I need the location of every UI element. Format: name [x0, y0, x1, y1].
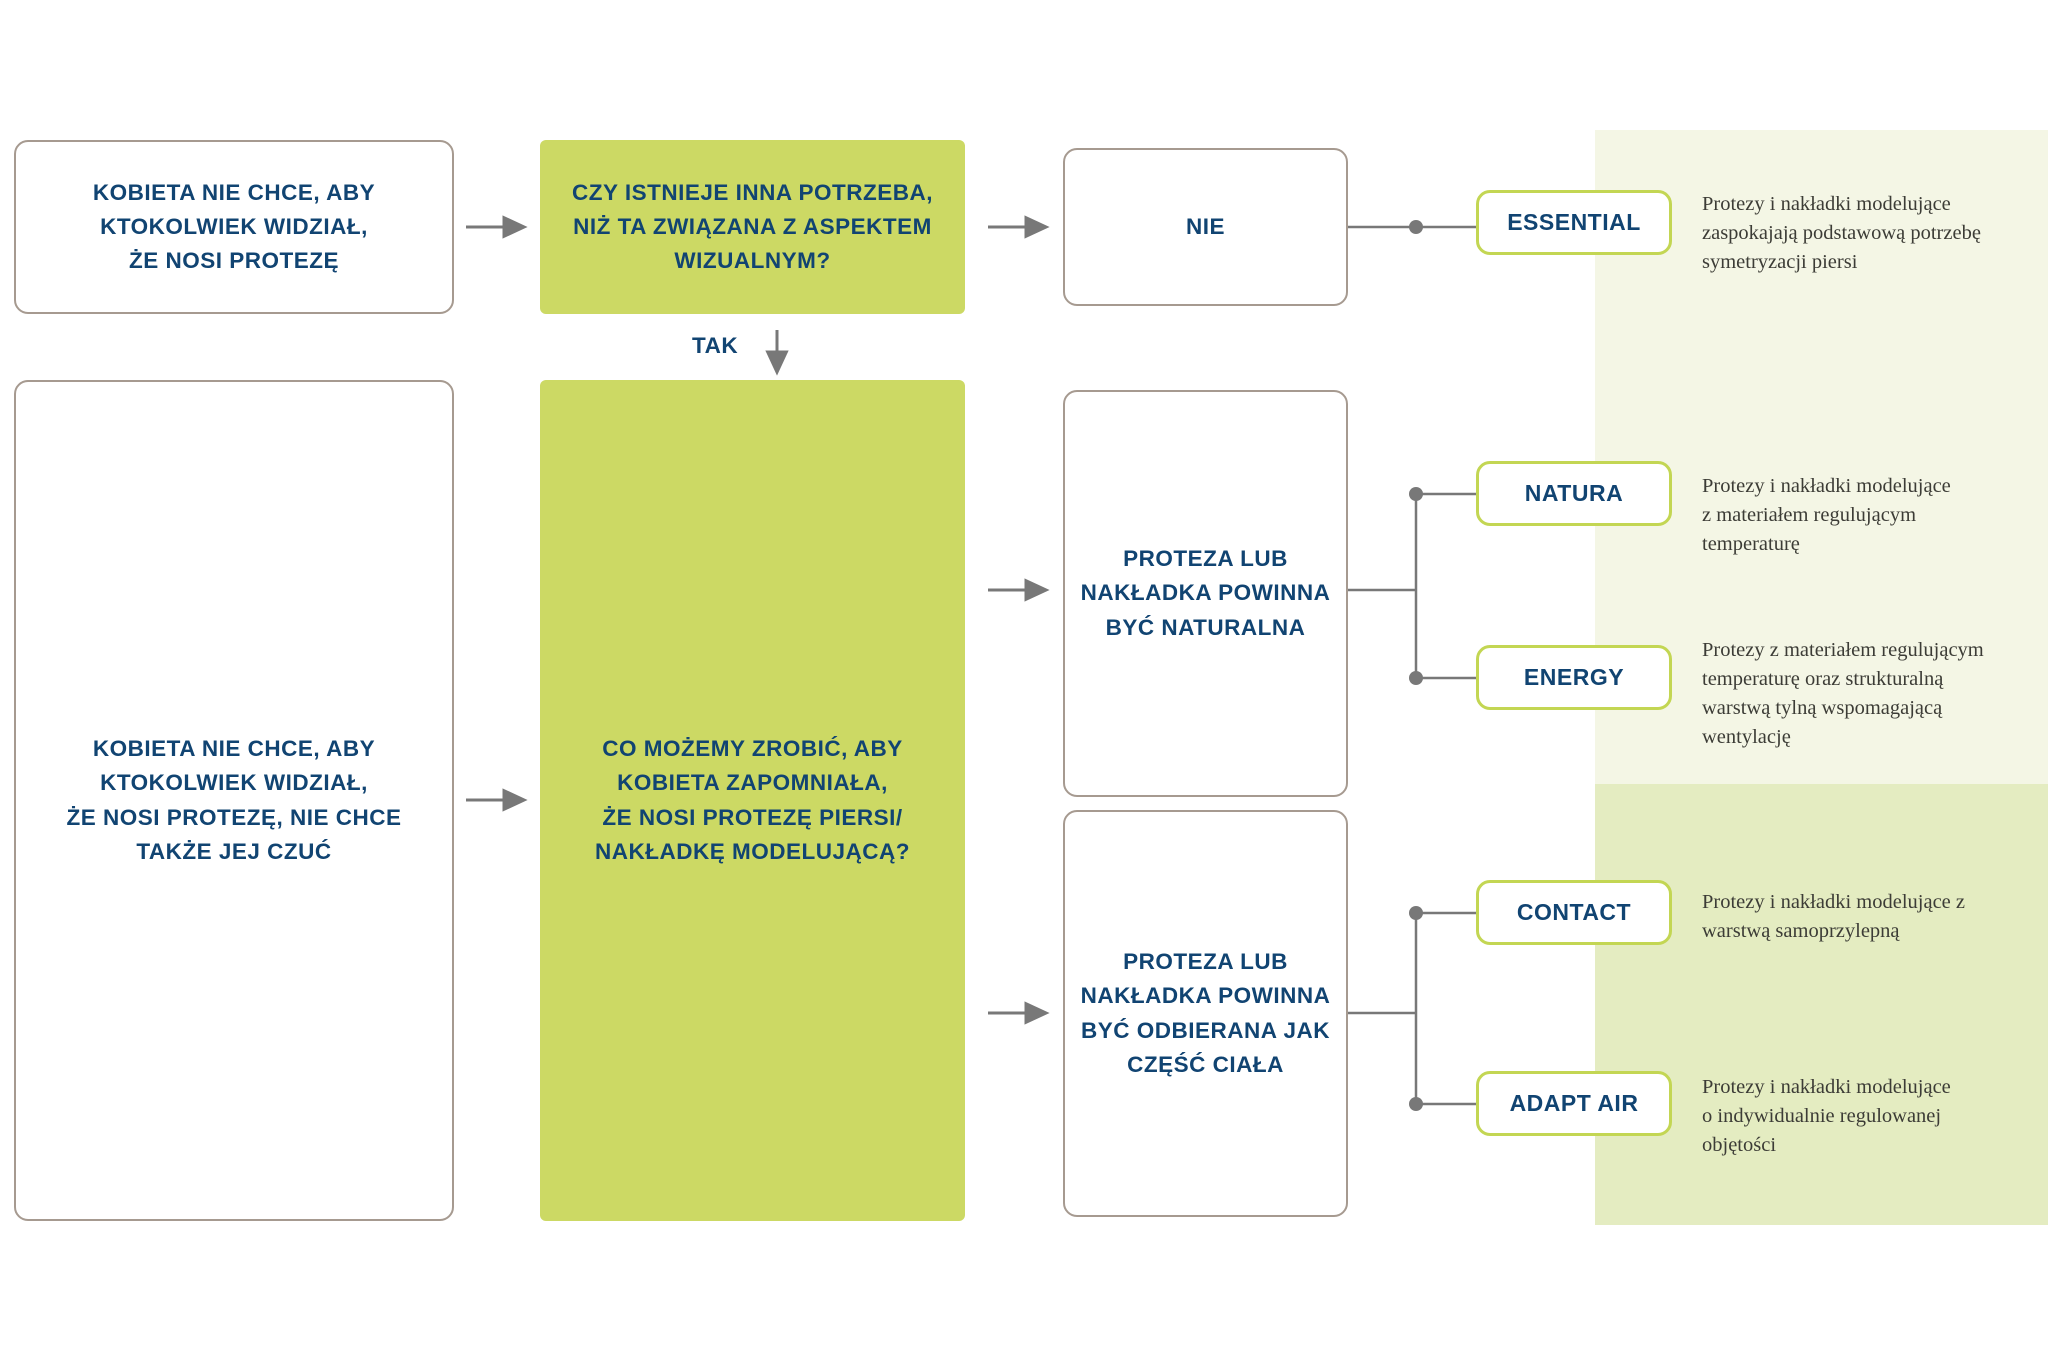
product-badge-natura-label: NATURA: [1525, 476, 1623, 511]
product-badge-essential[interactable]: ESSENTIAL: [1476, 190, 1672, 255]
product-badge-energy-label: ENERGY: [1524, 660, 1624, 695]
node-answer-no-label: NIE: [1186, 210, 1225, 244]
node-outcome-body-part-label: PROTEZA LUB NAKŁADKA POWINNA BYĆ ODBIERA…: [1081, 945, 1331, 1082]
node-question-visual-only[interactable]: KOBIETA NIE CHCE, ABY KTOKOLWIEK WIDZIAŁ…: [14, 140, 454, 314]
node-decision-other-need-label: CZY ISTNIEJE INNA POTRZEBA, NIŻ TA ZWIĄZ…: [572, 176, 933, 279]
node-question-visual-and-feel[interactable]: KOBIETA NIE CHCE, ABY KTOKOLWIEK WIDZIAŁ…: [14, 380, 454, 1221]
node-outcome-body-part[interactable]: PROTEZA LUB NAKŁADKA POWINNA BYĆ ODBIERA…: [1063, 810, 1348, 1217]
product-badge-adapt-air[interactable]: ADAPT AIR: [1476, 1071, 1672, 1136]
node-decision-what-can-we-do-label: CO MOŻEMY ZROBIĆ, ABY KOBIETA ZAPOMNIAŁA…: [595, 732, 910, 869]
product-description-energy: Protezy z materiałem regulującym tempera…: [1702, 636, 2022, 752]
node-outcome-natural[interactable]: PROTEZA LUB NAKŁADKA POWINNA BYĆ NATURAL…: [1063, 390, 1348, 797]
diagram-canvas: KOBIETA NIE CHCE, ABY KTOKOLWIEK WIDZIAŁ…: [0, 0, 2048, 1365]
product-badge-adapt-air-label: ADAPT AIR: [1510, 1086, 1639, 1121]
product-description-contact: Protezy i nakładki modelujące z warstwą …: [1702, 888, 2022, 946]
product-description-adapt-air: Protezy i nakładki modelujące o indywidu…: [1702, 1073, 2022, 1160]
product-badge-contact[interactable]: CONTACT: [1476, 880, 1672, 945]
product-badge-natura[interactable]: NATURA: [1476, 461, 1672, 526]
product-description-essential: Protezy i nakładki modelujące zaspokajaj…: [1702, 190, 2022, 277]
node-answer-no[interactable]: NIE: [1063, 148, 1348, 306]
node-question-visual-and-feel-label: KOBIETA NIE CHCE, ABY KTOKOLWIEK WIDZIAŁ…: [66, 732, 401, 869]
product-badge-contact-label: CONTACT: [1517, 895, 1631, 930]
node-question-visual-only-label: KOBIETA NIE CHCE, ABY KTOKOLWIEK WIDZIAŁ…: [93, 176, 375, 279]
node-decision-other-need[interactable]: CZY ISTNIEJE INNA POTRZEBA, NIŻ TA ZWIĄZ…: [540, 140, 965, 314]
node-outcome-natural-label: PROTEZA LUB NAKŁADKA POWINNA BYĆ NATURAL…: [1081, 542, 1331, 645]
product-badge-energy[interactable]: ENERGY: [1476, 645, 1672, 710]
product-description-natura: Protezy i nakładki modelujące z materiał…: [1702, 472, 2022, 559]
product-badge-essential-label: ESSENTIAL: [1507, 205, 1641, 240]
node-decision-what-can-we-do[interactable]: CO MOŻEMY ZROBIĆ, ABY KOBIETA ZAPOMNIAŁA…: [540, 380, 965, 1221]
edge-label-yes: TAK: [692, 333, 738, 359]
